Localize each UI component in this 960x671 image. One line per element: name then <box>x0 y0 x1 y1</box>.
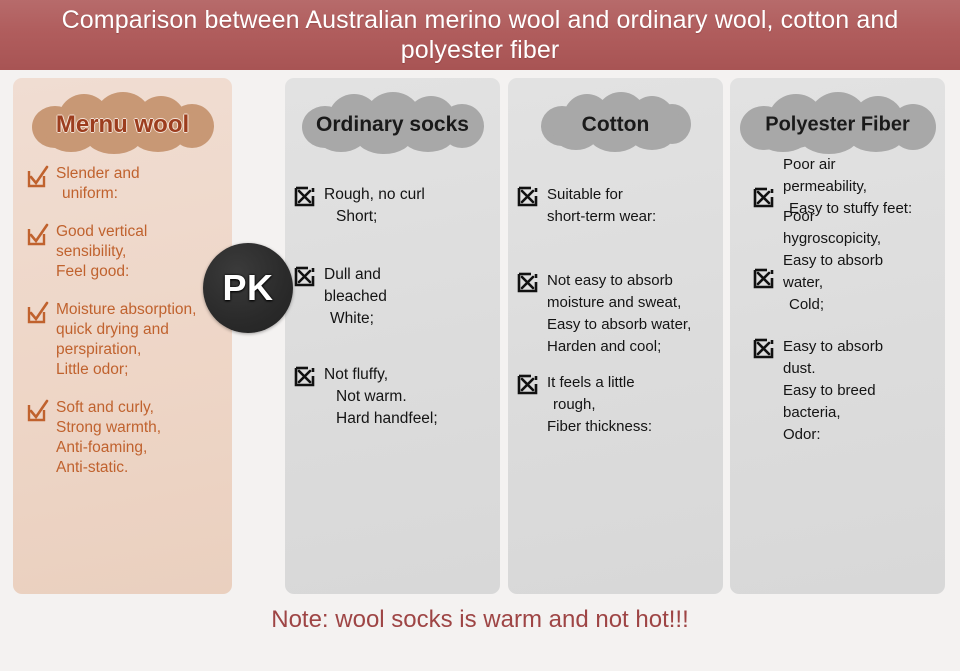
list-item[interactable]: Not fluffy, Not warm. Hard handfeel; <box>293 364 492 430</box>
text-line: Slender and <box>56 164 224 184</box>
list-item[interactable]: Dull and bleached White; <box>293 264 492 330</box>
text-line: White; <box>324 308 492 330</box>
text-line: Moisture absorption, <box>56 300 224 320</box>
cloud-title-ordinary-socks: Ordinary socks <box>285 86 500 164</box>
cloud-title-polyester-fiber: Polyester Fiber <box>730 86 945 164</box>
list-item-text: Moisture absorption, quick drying and pe… <box>56 300 224 380</box>
list-item-text: Rough, no curl Short; <box>324 184 492 228</box>
text-line: Poor air <box>783 154 937 176</box>
list-item[interactable]: Rough, no curl Short; <box>293 184 492 228</box>
text-line: Good vertical <box>56 222 224 242</box>
x-box-icon <box>516 184 542 210</box>
text-line: dust. <box>783 358 937 380</box>
bullet-list-merino-wool: Slender and uniform: Good vertical sensi… <box>13 164 232 478</box>
column-merino-wool[interactable]: Mernu wool Slender and uniform: <box>13 78 232 594</box>
list-item-text: Slender and uniform: <box>56 164 224 204</box>
list-item-text: Good vertical sensibility, Feel good: <box>56 222 224 282</box>
text-line: perspiration, <box>56 340 224 360</box>
list-item-text: Not easy to absorb moisture and sweat, E… <box>547 270 715 358</box>
text-line: Suitable for <box>547 184 715 206</box>
text-line: Hard handfeel; <box>324 408 492 430</box>
bullet-list-polyester-fiber: Poor air permeability, Easy to stuffy fe… <box>730 176 945 446</box>
bullet-list-ordinary-socks: Rough, no curl Short; Dull and bleached <box>285 184 500 430</box>
text-line: It feels a little <box>547 372 715 394</box>
column-cotton[interactable]: Cotton Suitable for short-term wear: <box>508 78 723 594</box>
text-line: Not fluffy, <box>324 364 492 386</box>
pk-badge-label: PK <box>222 267 273 309</box>
text-line: Soft and curly, <box>56 398 224 418</box>
text-line: rough, <box>547 394 715 416</box>
text-line: Easy to absorb <box>783 336 937 358</box>
text-line: Easy to absorb water, <box>547 314 715 336</box>
text-line: Not warm. <box>324 386 492 408</box>
text-line: permeability, <box>783 176 937 198</box>
text-line: Anti-foaming, <box>56 438 224 458</box>
check-box-icon <box>25 398 51 424</box>
text-line: Easy to absorb <box>783 250 937 272</box>
x-box-icon <box>293 184 319 210</box>
text-line: uniform: <box>56 184 224 204</box>
x-box-icon <box>293 264 319 290</box>
text-line: Dull and <box>324 264 492 286</box>
text-line: Harden and cool; <box>547 336 715 358</box>
comparison-board: Mernu wool Slender and uniform: <box>0 70 960 600</box>
cloud-title-merino-wool: Mernu wool <box>13 86 232 164</box>
list-item-text: Suitable for short-term wear: <box>547 184 715 228</box>
text-line: bacteria, <box>783 402 937 424</box>
text-line: water, <box>783 272 937 294</box>
list-item[interactable]: Easy to absorb dust. Easy to breed bacte… <box>752 336 937 446</box>
text-line: sensibility, <box>56 242 224 262</box>
page-title: Comparison between Australian merino woo… <box>30 5 930 65</box>
text-line: quick drying and <box>56 320 224 340</box>
check-box-icon <box>25 222 51 248</box>
footer-note: Note: wool socks is warm and not hot!!! <box>0 605 960 635</box>
column-title-merino-wool: Mernu wool <box>13 111 232 139</box>
x-box-icon <box>752 185 778 211</box>
column-title-ordinary-socks: Ordinary socks <box>285 113 500 137</box>
text-line: moisture and sweat, <box>547 292 715 314</box>
text-line: bleached <box>324 286 492 308</box>
text-line: Easy to breed <box>783 380 937 402</box>
list-item-text: Dull and bleached White; <box>324 264 492 330</box>
text-line: Rough, no curl <box>324 184 492 206</box>
text-line: Odor: <box>783 424 937 446</box>
header-banner: Comparison between Australian merino woo… <box>0 0 960 70</box>
list-item[interactable]: Good vertical sensibility, Feel good: <box>25 222 224 282</box>
check-box-icon <box>25 300 51 326</box>
text-line: short-term wear: <box>547 206 715 228</box>
column-ordinary-socks[interactable]: Ordinary socks Rough, no curl Short; <box>285 78 500 594</box>
x-box-icon <box>516 270 542 296</box>
text-line: Anti-static. <box>56 458 224 478</box>
column-title-polyester-fiber: Polyester Fiber <box>730 114 945 137</box>
list-item[interactable]: Soft and curly, Strong warmth, Anti-foam… <box>25 398 224 478</box>
check-box-icon <box>25 164 51 190</box>
list-item[interactable]: Poor hygroscopicity, Easy to absorb wate… <box>752 242 937 316</box>
x-box-icon <box>293 364 319 390</box>
text-line: Fiber thickness: <box>547 416 715 438</box>
list-item-text: It feels a little rough, Fiber thickness… <box>547 372 715 438</box>
x-box-icon <box>752 266 778 292</box>
list-item-text: Not fluffy, Not warm. Hard handfeel; <box>324 364 492 430</box>
list-item[interactable]: Not easy to absorb moisture and sweat, E… <box>516 270 715 358</box>
column-polyester-fiber[interactable]: Polyester Fiber Poor air permeability, E… <box>730 78 945 594</box>
bullet-list-cotton: Suitable for short-term wear: Not easy t… <box>508 184 723 438</box>
pk-badge: PK <box>203 243 293 333</box>
list-item-text: Soft and curly, Strong warmth, Anti-foam… <box>56 398 224 478</box>
text-line: Little odor; <box>56 360 224 380</box>
text-line: Poor <box>783 206 937 228</box>
text-line: Not easy to absorb <box>547 270 715 292</box>
list-item[interactable]: Moisture absorption, quick drying and pe… <box>25 300 224 380</box>
x-box-icon <box>516 372 542 398</box>
text-line: Feel good: <box>56 262 224 282</box>
column-title-cotton: Cotton <box>508 113 723 137</box>
text-line: Cold; <box>783 294 937 316</box>
cloud-title-cotton: Cotton <box>508 86 723 164</box>
text-line: Strong warmth, <box>56 418 224 438</box>
text-line: hygroscopicity, <box>783 228 937 250</box>
text-line: Short; <box>324 206 492 228</box>
list-item[interactable]: Slender and uniform: <box>25 164 224 204</box>
list-item[interactable]: Suitable for short-term wear: <box>516 184 715 228</box>
x-box-icon <box>752 336 778 362</box>
list-item-text: Poor hygroscopicity, Easy to absorb wate… <box>783 206 937 316</box>
list-item-text: Easy to absorb dust. Easy to breed bacte… <box>783 336 937 446</box>
list-item[interactable]: It feels a little rough, Fiber thickness… <box>516 372 715 438</box>
